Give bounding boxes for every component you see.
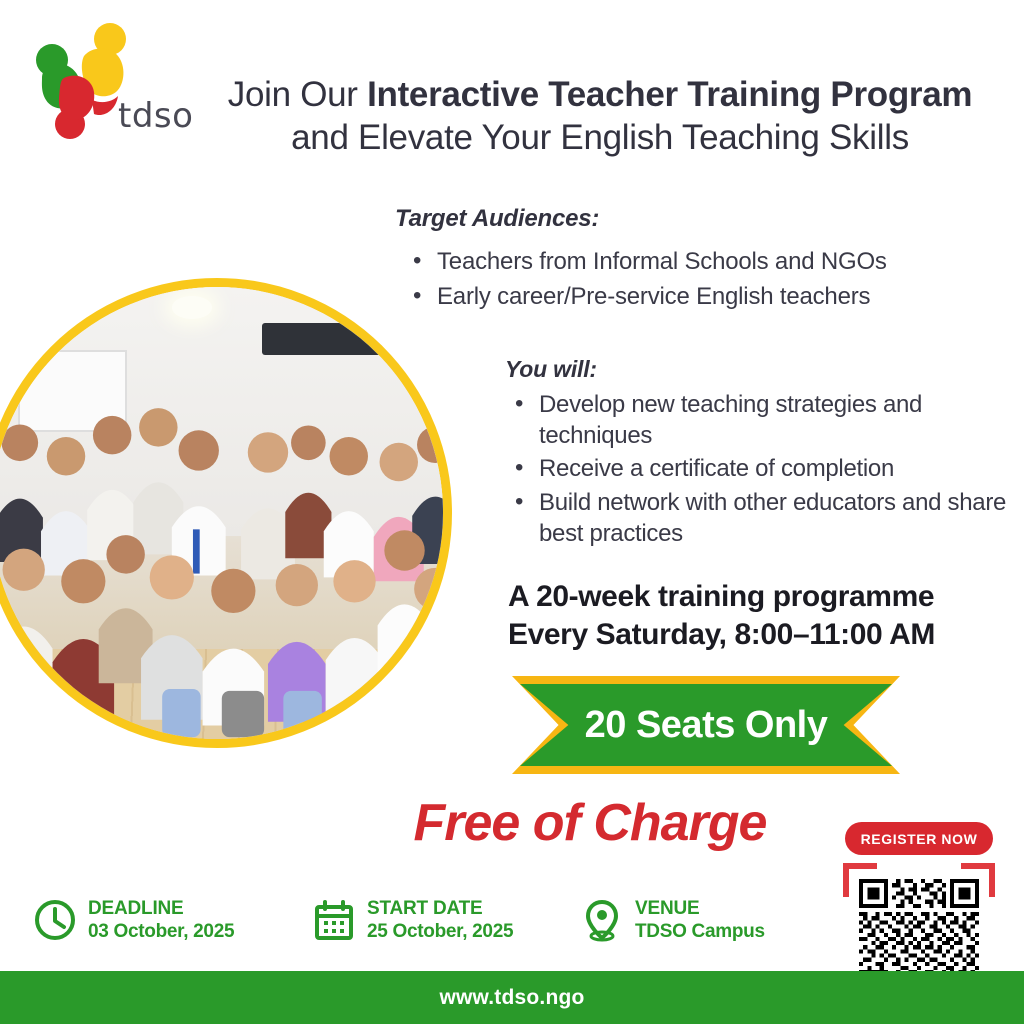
footer-bar: www.tdso.ngo bbox=[0, 971, 1024, 1024]
group-photo-image bbox=[0, 287, 443, 739]
schedule-time: Every Saturday, 8:00–11:00 AM bbox=[508, 616, 1018, 654]
detail-value: TDSO Campus bbox=[635, 920, 765, 943]
price-callout: Free of Charge bbox=[360, 793, 820, 853]
clock-icon bbox=[33, 898, 77, 942]
seats-ribbon-banner: 20 Seats Only bbox=[512, 676, 900, 774]
detail-deadline: DEADLINE 03 October, 2025 bbox=[33, 897, 234, 943]
detail-label: START DATE bbox=[367, 897, 513, 920]
headline-line1-prefix: Join Our bbox=[228, 75, 367, 114]
list-item: Develop new teaching strategies and tech… bbox=[505, 389, 1017, 451]
ribbon-fill: 20 Seats Only bbox=[520, 684, 892, 766]
tdso-logo: tdso bbox=[30, 22, 195, 142]
calendar-icon bbox=[312, 898, 356, 942]
detail-label: DEADLINE bbox=[88, 897, 234, 920]
poster-headline: Join Our Interactive Teacher Training Pr… bbox=[200, 74, 1000, 159]
target-audience-title: Target Audiences: bbox=[395, 205, 995, 233]
event-details-row: DEADLINE 03 October, 2025 START DATE 25 … bbox=[0, 893, 1024, 961]
schedule-duration: A 20-week training programme bbox=[508, 578, 1018, 616]
seats-count-label: 20 Seats Only bbox=[585, 704, 828, 747]
target-audience-section: Target Audiences: Teachers from Informal… bbox=[395, 205, 995, 315]
website-url[interactable]: www.tdso.ngo bbox=[439, 986, 584, 1010]
benefits-list: Develop new teaching strategies and tech… bbox=[505, 389, 1017, 549]
poster-canvas: tdso Join Our Interactive Teacher Traini… bbox=[0, 0, 1024, 1024]
schedule-text: A 20-week training programme Every Satur… bbox=[508, 578, 1018, 655]
detail-label: VENUE bbox=[635, 897, 765, 920]
target-audience-list: Teachers from Informal Schools and NGOs … bbox=[395, 245, 995, 315]
headline-line1-bold: Interactive Teacher Training Program bbox=[367, 75, 972, 114]
detail-start-date: START DATE 25 October, 2025 bbox=[312, 897, 513, 943]
detail-value: 25 October, 2025 bbox=[367, 920, 513, 943]
list-item: Receive a certificate of completion bbox=[505, 453, 1017, 484]
group-photo bbox=[0, 278, 452, 748]
location-pin-icon bbox=[580, 898, 624, 942]
list-item: Build network with other educators and s… bbox=[505, 487, 1017, 549]
benefits-section: You will: Develop new teaching strategie… bbox=[505, 356, 1017, 551]
logo-wordmark: tdso bbox=[118, 96, 193, 136]
photo-people bbox=[0, 287, 443, 739]
detail-venue: VENUE TDSO Campus bbox=[580, 897, 765, 943]
benefits-title: You will: bbox=[505, 356, 1017, 383]
list-item: Teachers from Informal Schools and NGOs bbox=[395, 245, 995, 280]
register-now-button[interactable]: REGISTER NOW bbox=[845, 822, 993, 855]
detail-value: 03 October, 2025 bbox=[88, 920, 234, 943]
register-now-label: REGISTER NOW bbox=[861, 831, 978, 847]
headline-line2: and Elevate Your English Teaching Skills bbox=[200, 117, 1000, 160]
list-item: Early career/Pre-service English teacher… bbox=[395, 280, 995, 315]
